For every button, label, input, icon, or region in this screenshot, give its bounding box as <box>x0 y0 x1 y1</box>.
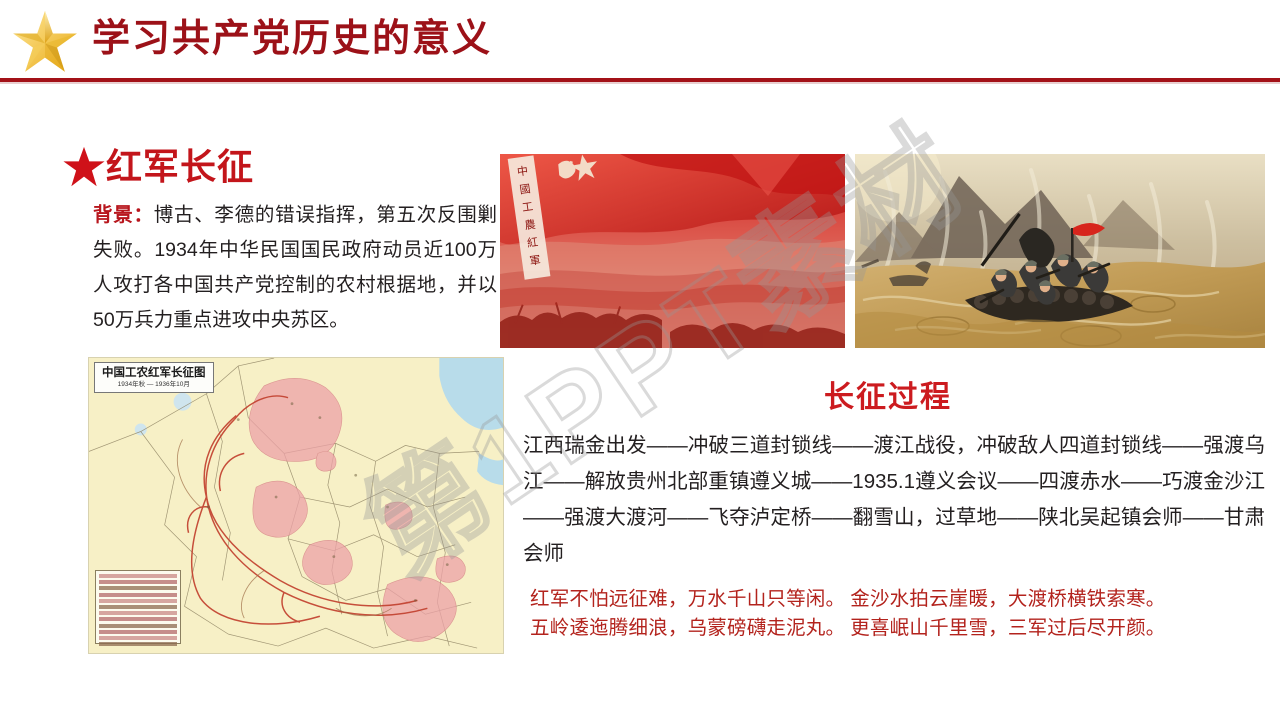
map-subtitle: 1934年秋 — 1936年10月 <box>102 380 206 389</box>
map-title-box: 中国工农红军长征图 1934年秋 — 1936年10月 <box>94 362 214 393</box>
svg-text:中: 中 <box>516 164 529 178</box>
svg-text:工: 工 <box>521 201 534 214</box>
map-legend <box>95 570 181 644</box>
header-divider-light <box>0 82 1280 84</box>
map-title: 中国工农红军长征图 <box>102 366 206 380</box>
process-paragraph: 江西瑞金出发——冲破三道封锁线——渡江战役，冲破敌人四道封锁线——强渡乌江——解… <box>523 428 1265 572</box>
red-star-icon <box>62 146 106 188</box>
background-body: 博古、李德的错误指挥，第五次反围剿失败。1934年中华民国国民政府动员近100万… <box>93 204 497 331</box>
process-title: 长征过程 <box>510 378 1266 418</box>
long-march-route-map[interactable]: 中国工农红军长征图 1934年秋 — 1936年10月 <box>88 357 504 654</box>
poem-line-2: 五岭逶迤腾细浪，乌蒙磅礴走泥丸。 更喜岷山千里雪，三军过后尽开颜。 <box>530 614 1270 643</box>
poem-line-1: 红军不怕远征难，万水千山只等闲。 金沙水拍云崖暖，大渡桥横铁索寒。 <box>530 585 1270 614</box>
raft-painting-graphic <box>855 154 1265 348</box>
red-army-flag-photo[interactable]: 中 國 工 農 紅 軍 <box>500 154 845 348</box>
section-title-long-march: 红军长征 <box>106 144 254 190</box>
dadu-river-crossing-painting[interactable] <box>855 154 1265 348</box>
svg-text:紅: 紅 <box>526 236 539 250</box>
poem-block: 红军不怕远征难，万水千山只等闲。 金沙水拍云崖暖，大渡桥横铁索寒。 五岭逶迤腾细… <box>530 585 1270 643</box>
background-label: 背景： <box>93 204 154 226</box>
svg-text:軍: 軍 <box>529 253 542 267</box>
svg-text:農: 農 <box>524 217 537 232</box>
page-title: 学习共产党历史的意义 <box>92 10 492 68</box>
gold-star-icon <box>8 8 82 76</box>
flag-photo-graphic: 中 國 工 農 紅 軍 <box>500 154 845 348</box>
svg-text:國: 國 <box>519 182 532 196</box>
slide-canvas: 学习共产党历史的意义 红军长征 背景：博古、李德的错误指挥，第五次反围剿失败。1… <box>0 0 1280 720</box>
slide-header: 学习共产党历史的意义 <box>0 0 1280 82</box>
background-paragraph: 背景：博古、李德的错误指挥，第五次反围剿失败。1934年中华民国国民政府动员近1… <box>93 198 497 338</box>
